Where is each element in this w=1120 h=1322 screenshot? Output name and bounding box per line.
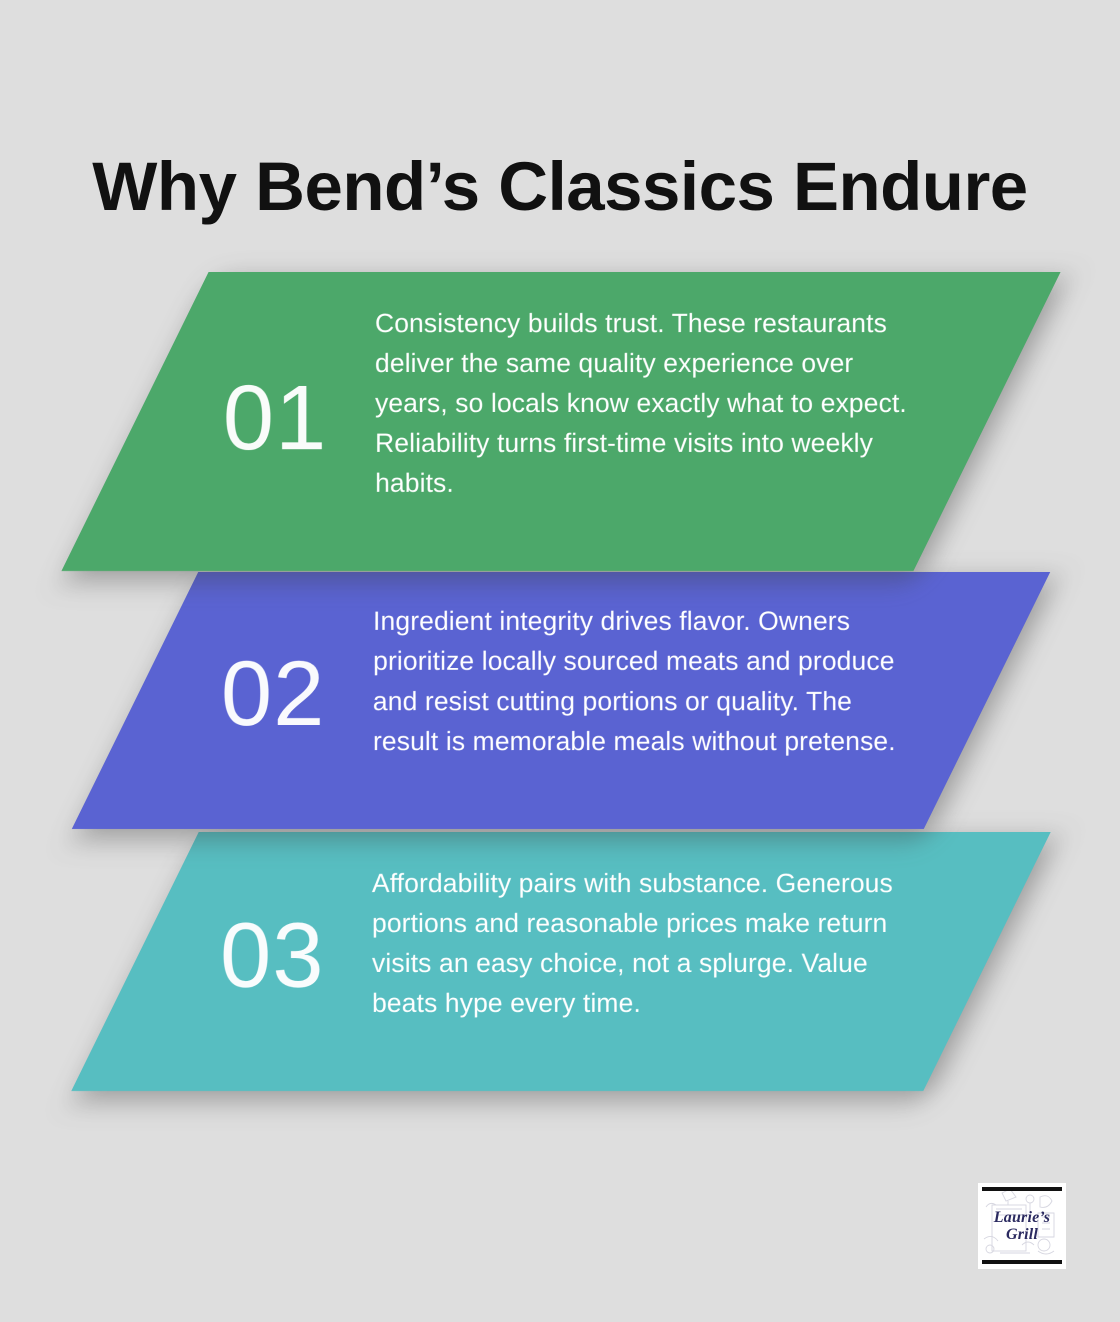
panel-content-01: 01 Consistency builds trust. These resta… [135,272,987,571]
logo-line-1: Laurie’s [994,1209,1050,1226]
panel-content-02: 02 Ingredient integrity drives flavor. O… [135,572,987,829]
infographic-canvas: Why Bend’s Classics Endure 01 Consistenc… [0,0,1120,1322]
logo-line-2: Grill [978,1226,1066,1243]
brand-logo: Laurie’s Grill [978,1183,1066,1269]
logo-wordmark: Laurie’s Grill [978,1209,1066,1243]
panel-content-03: 03 Affordability pairs with substance. G… [135,832,987,1091]
logo-rule-bottom [982,1260,1062,1264]
logo-rule-top [982,1187,1062,1191]
panel-text-03: Affordability pairs with substance. Gene… [372,863,902,1023]
panel-text-02: Ingredient integrity drives flavor. Owne… [373,601,913,761]
panel-number-01: 01 [223,372,327,464]
panel-text-01: Consistency builds trust. These restaura… [375,303,915,503]
panel-item-03: 03 Affordability pairs with substance. G… [71,832,1050,1091]
panel-number-03: 03 [220,910,324,1002]
panel-item-02: 02 Ingredient integrity drives flavor. O… [72,572,1050,829]
panel-item-01: 01 Consistency builds trust. These resta… [61,272,1060,571]
panel-number-02: 02 [221,648,325,740]
panel-list: 01 Consistency builds trust. These resta… [0,0,1120,1322]
